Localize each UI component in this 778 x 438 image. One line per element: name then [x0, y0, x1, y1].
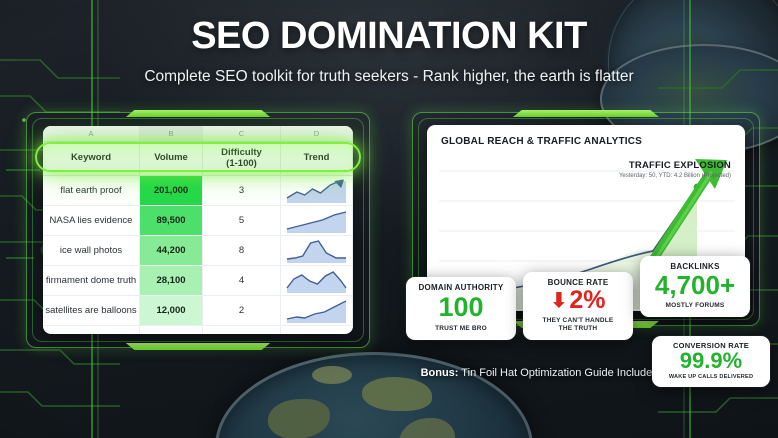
- frame-tab-bottom: [126, 343, 270, 350]
- landmass-shape: [268, 399, 330, 438]
- bonus-banner: Bonus: Tin Foil Hat Optimization Guide I…: [410, 367, 672, 379]
- cell-trend-sparkline: [281, 296, 353, 325]
- chart-annotation-title: TRAFFIC EXPLOSION: [619, 160, 731, 171]
- frame-tab-top: [126, 110, 270, 117]
- table-row[interactable]: ice wall photos 44,200 8: [43, 236, 353, 266]
- table-row[interactable]: satellites are balloons 12,000 2: [43, 296, 353, 326]
- cell-keyword: firmament dome truth: [43, 266, 140, 295]
- sparkline-spike-icon: [285, 239, 348, 263]
- cell-difficulty: 8: [203, 236, 281, 265]
- cell-keyword: satellites are balloons: [43, 296, 140, 325]
- column-header-volume: Volume: [140, 142, 203, 175]
- table-row[interactable]: flat earth proof 201,000 3: [43, 176, 353, 206]
- cell-keyword: ice wall photos: [43, 236, 140, 265]
- table-row[interactable]: firmament dome truth 28,100 4: [43, 266, 353, 296]
- cell-difficulty: 4: [203, 266, 281, 295]
- cell-difficulty: 3: [203, 176, 281, 205]
- cell-trend-sparkline: [281, 206, 353, 235]
- down-arrow-icon: ⬇: [551, 291, 568, 311]
- cell-keyword: flat earth proof: [43, 176, 140, 205]
- chart-annotation-subtitle: Yesterday: 50, YTD: 4.2 Billion (Project…: [619, 173, 731, 179]
- cell-difficulty: 2: [203, 296, 281, 325]
- metric-sublabel: WAKE UP CALLS DELIVERED: [656, 374, 766, 381]
- spreadsheet-column-letters: A B C D: [43, 126, 353, 142]
- column-letter-d[interactable]: D: [281, 126, 353, 141]
- table-row-empty[interactable]: [43, 326, 353, 334]
- column-header-difficulty: Difficulty(1-100): [203, 142, 281, 175]
- metric-card-conversion-rate[interactable]: CONVERSION RATE 99.9% WAKE UP CALLS DELI…: [652, 336, 770, 387]
- metric-value: 2%: [569, 288, 605, 314]
- poster-canvas: SEO DOMINATION KIT Complete SEO toolkit …: [0, 0, 778, 438]
- cell-difficulty: 5: [203, 206, 281, 235]
- cell-trend-sparkline: [281, 266, 353, 295]
- keyword-spreadsheet-panel: A B C D Keyword Volume Difficulty(1-100)…: [26, 112, 370, 348]
- page-title: SEO DOMINATION KIT: [0, 17, 778, 57]
- landmass-shape: [690, 103, 718, 112]
- metric-sublabel: MOSTLY FORUMS: [645, 302, 745, 310]
- spreadsheet[interactable]: A B C D Keyword Volume Difficulty(1-100)…: [43, 126, 353, 334]
- cell-volume: 89,500: [140, 206, 203, 235]
- cell-volume: 201,000: [140, 176, 203, 205]
- cell-empty: [140, 326, 203, 334]
- chart-title: GLOBAL REACH & TRAFFIC ANALYTICS: [441, 136, 642, 147]
- metric-sublabel: THEY CAN'T HANDLETHE TRUTH: [528, 317, 628, 333]
- metric-value: 4,700+: [645, 272, 745, 299]
- sparkline-double-hump-icon: [285, 269, 348, 293]
- cell-volume: 28,100: [140, 266, 203, 295]
- column-header-keyword: Keyword: [43, 142, 140, 175]
- landmass-shape: [399, 418, 455, 438]
- cell-volume: 12,000: [140, 296, 203, 325]
- table-row[interactable]: NASA lies evidence 89,500 5: [43, 206, 353, 236]
- cell-empty: [281, 326, 353, 334]
- sparkline-rising-arrow-icon: [285, 179, 348, 203]
- landmass-shape: [312, 366, 352, 384]
- metric-value: 99.9%: [656, 350, 766, 372]
- cell-keyword: NASA lies evidence: [43, 206, 140, 235]
- cell-trend-sparkline: [281, 236, 353, 265]
- column-letter-a[interactable]: A: [43, 126, 140, 141]
- spreadsheet-header-row: Keyword Volume Difficulty(1-100) Trend: [43, 142, 353, 176]
- cell-empty: [203, 326, 281, 334]
- cell-volume: 44,200: [140, 236, 203, 265]
- cell-empty: [43, 326, 140, 334]
- metric-sublabel: TRUST ME BRO: [411, 325, 511, 333]
- page-subtitle: Complete SEO toolkit for truth seekers -…: [0, 68, 778, 86]
- landmass-shape: [362, 377, 432, 411]
- metric-card-bounce-rate[interactable]: BOUNCE RATE ⬇ 2% THEY CAN'T HANDLETHE TR…: [523, 272, 633, 340]
- bonus-prefix: Bonus:: [421, 367, 459, 379]
- column-letter-c[interactable]: C: [203, 126, 281, 141]
- metric-value: 100: [411, 294, 511, 322]
- cell-trend-sparkline: [281, 176, 353, 205]
- frame-tab-top: [513, 110, 659, 117]
- metric-card-backlinks[interactable]: BACKLINKS 4,700+ MOSTLY FORUMS: [640, 256, 750, 317]
- sparkline-late-rise-icon: [285, 299, 348, 323]
- column-header-trend: Trend: [281, 142, 353, 175]
- sparkline-steady-rise-icon: [285, 209, 348, 233]
- poster-header: SEO DOMINATION KIT Complete SEO toolkit …: [0, 0, 778, 86]
- chart-annotation: TRAFFIC EXPLOSION Yesterday: 50, YTD: 4.…: [619, 160, 731, 179]
- metric-card-domain-authority[interactable]: DOMAIN AUTHORITY 100 TRUST ME BRO: [406, 277, 516, 340]
- metric-label: DOMAIN AUTHORITY: [411, 283, 511, 292]
- bonus-text: Tin Foil Hat Optimization Guide Included…: [458, 367, 661, 379]
- column-letter-b[interactable]: B: [140, 126, 203, 141]
- flat-earth-disc-graphic: [215, 352, 533, 438]
- metric-value-wrap: ⬇ 2%: [528, 288, 628, 314]
